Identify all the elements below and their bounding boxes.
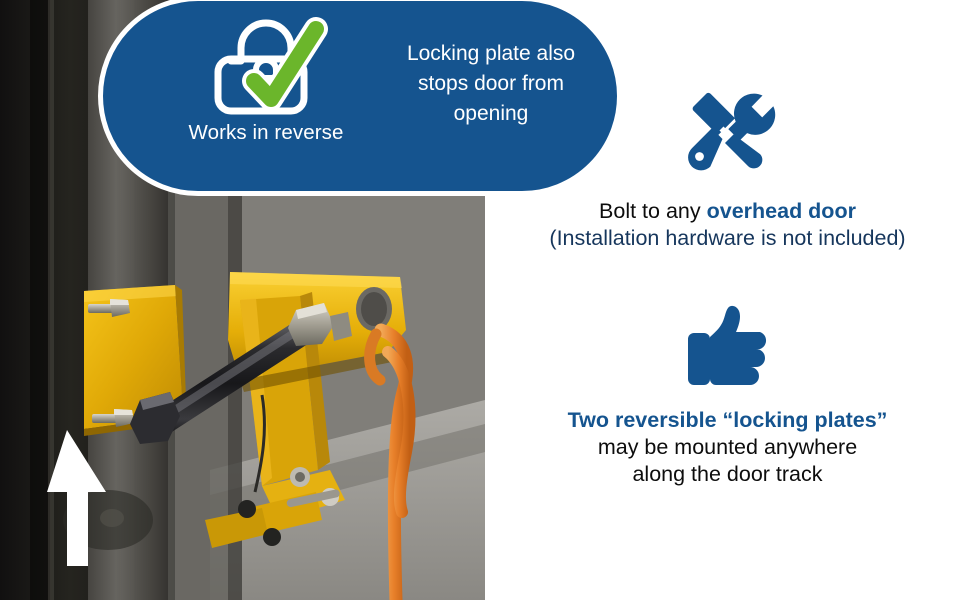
banner-sub-label: Works in reverse	[158, 121, 374, 145]
padlock-with-checkmark-icon	[196, 17, 336, 117]
feature-bolt-text: Bolt to any overhead door (Installation …	[485, 198, 970, 252]
thumbs-up-icon	[676, 305, 780, 391]
wrench-and-screwdriver-icon	[676, 78, 780, 182]
feature-bolt-line-1: Bolt to any overhead door	[485, 198, 970, 225]
feature-bolt-overhead-door: Bolt to any overhead door (Installation …	[485, 78, 970, 252]
infographic-root: Works in reverse Locking plate also stop…	[0, 0, 970, 600]
feature-plates-line-1: Two reversible “locking plates”	[485, 407, 970, 434]
feature-plates-text: Two reversible “locking plates” may be m…	[485, 407, 970, 488]
feature-plates-line-3: along the door track	[485, 461, 970, 488]
features-column: Bolt to any overhead door (Installation …	[485, 0, 970, 600]
feature-reversible-locking-plates: Two reversible “locking plates” may be m…	[485, 305, 970, 488]
banner-lock-column: Works in reverse	[158, 17, 374, 145]
feature-plates-line-2: may be mounted anywhere	[485, 434, 970, 461]
feature-bolt-line-2: (Installation hardware is not included)	[485, 225, 970, 252]
feature-bolt-line-1-bold: overhead door	[707, 199, 856, 223]
feature-bolt-line-1-prefix: Bolt to any	[599, 199, 707, 223]
